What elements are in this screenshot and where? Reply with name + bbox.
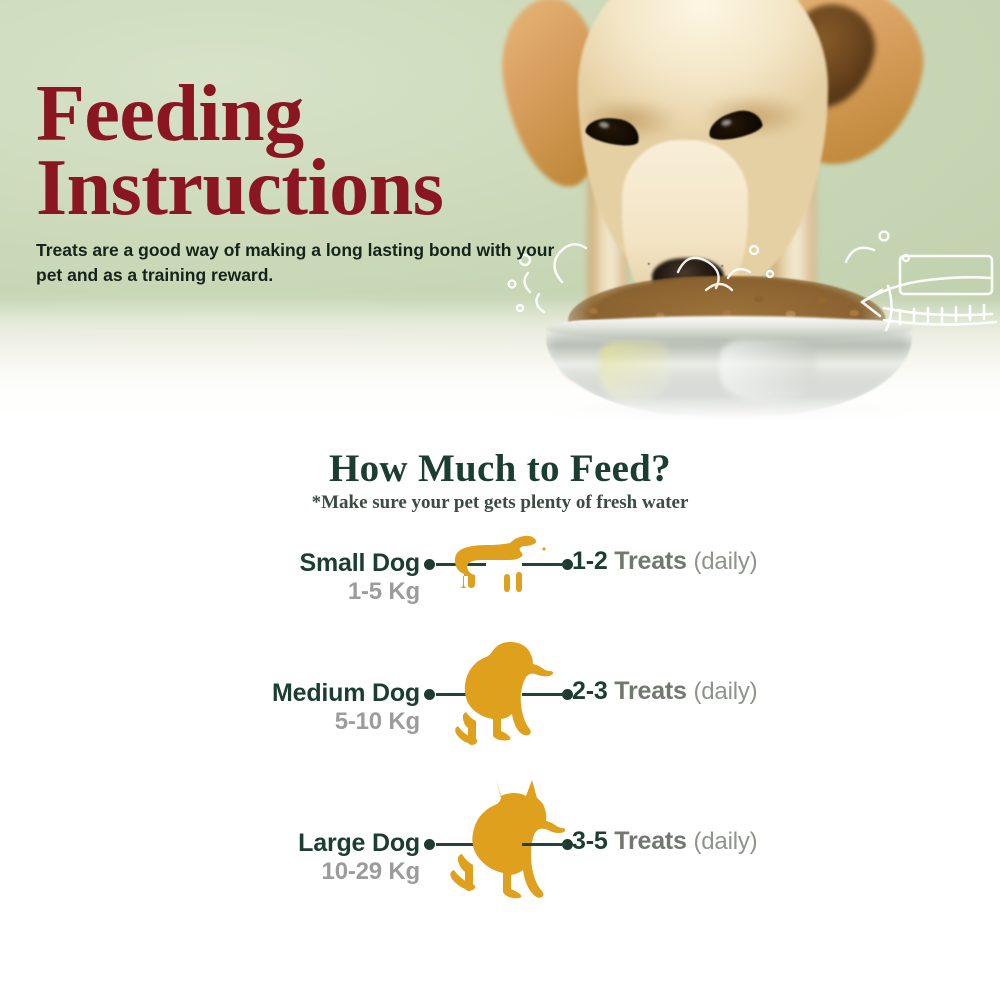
connector-line-right: [522, 843, 566, 846]
feeding-instructions-infographic: Feeding Instructions Treats are a good w…: [0, 0, 1000, 1000]
treat-unit: Treats: [614, 827, 693, 855]
dog-size-name: Large Dog: [130, 830, 420, 858]
dog-weight-range: 10-29 Kg: [130, 858, 420, 886]
dog-size-name: Small Dog: [130, 550, 420, 578]
section-title: How Much to Feed?: [0, 446, 1000, 491]
hero-bottom-fade: [0, 355, 1000, 430]
dog-weight-range: 1-5 Kg: [130, 578, 420, 606]
dog-size-name: Medium Dog: [130, 680, 420, 708]
connector-line-right: [522, 563, 566, 566]
treat-unit: Treats: [614, 547, 693, 575]
treat-amount-block: 3-5 Treats (daily): [572, 827, 757, 856]
treat-count: 2-3: [572, 677, 614, 705]
hero-headline: Feeding Instructions: [36, 78, 636, 225]
fresh-water-note: *Make sure your pet gets plenty of fresh…: [0, 492, 1000, 514]
dog-size-label-block: Small Dog 1-5 Kg: [130, 550, 420, 605]
treat-frequency: (daily): [693, 678, 757, 705]
treat-frequency: (daily): [693, 548, 757, 575]
food-bowl-rim: [546, 316, 912, 342]
how-much-to-feed-section: How Much to Feed? *Make sure your pet ge…: [0, 430, 1000, 1000]
dog-size-label-block: Medium Dog 5-10 Kg: [130, 680, 420, 735]
connector-line-right: [522, 693, 566, 696]
treat-amount-block: 2-3 Treats (daily): [572, 677, 757, 706]
dog-size-label-block: Large Dog 10-29 Kg: [130, 830, 420, 885]
treat-frequency: (daily): [693, 828, 757, 855]
treat-amount-block: 1-2 Treats (daily): [572, 547, 757, 576]
hero-banner: Feeding Instructions Treats are a good w…: [0, 0, 1000, 430]
dog-weight-range: 5-10 Kg: [130, 708, 420, 736]
treat-unit: Treats: [614, 677, 693, 705]
treat-count: 3-5: [572, 827, 614, 855]
treat-count: 1-2: [572, 547, 614, 575]
hero-subtitle: Treats are a good way of making a long l…: [36, 238, 556, 289]
headline-line-2: Instructions: [36, 152, 636, 226]
feeding-row: Large Dog 10-29 Kg 3-5 Treats (daily): [0, 830, 1000, 980]
headline-line-1: Feeding: [36, 78, 636, 152]
